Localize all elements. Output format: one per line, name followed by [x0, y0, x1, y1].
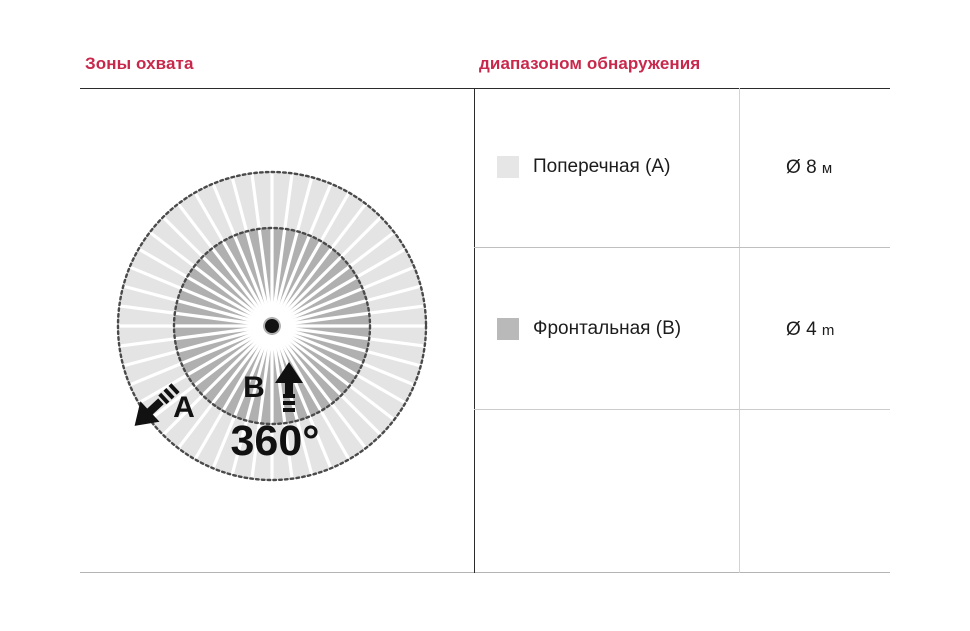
zone-range-frontal: Ø 4 m — [786, 319, 834, 341]
zone-a-label: A — [173, 391, 195, 424]
sensor-center-dot — [265, 319, 279, 333]
diameter-number-1: 8 — [806, 157, 817, 178]
page-title-detection-range: диапазоном обнаружения — [479, 54, 700, 74]
zone-label-frontal: Фронтальная (B) — [533, 318, 681, 340]
coverage-angle-label: 360° — [231, 417, 320, 465]
table-row-divider-1 — [474, 247, 890, 248]
table-value-divider — [739, 88, 740, 573]
diameter-unit-1: м — [822, 160, 832, 177]
coverage-diagram-svg: B A 360° — [108, 162, 436, 490]
table-top-border — [80, 88, 890, 89]
table-bottom-border — [80, 572, 890, 573]
zone-b-label: B — [243, 371, 265, 404]
diameter-number-2: 4 — [806, 319, 817, 340]
diameter-symbol-2: Ø — [786, 319, 801, 340]
table-row: Поперечная (A) — [497, 156, 670, 178]
zone-range-transverse: Ø 8 м — [786, 157, 832, 179]
zone-label-transverse: Поперечная (A) — [533, 156, 670, 178]
zone-swatch-frontal-icon — [497, 318, 519, 340]
page-title-coverage-zones: Зоны охвата — [85, 54, 194, 74]
table-row-divider-2 — [474, 409, 890, 410]
zone-swatch-transverse-icon — [497, 156, 519, 178]
table-column-divider — [474, 88, 475, 573]
diameter-symbol-1: Ø — [786, 157, 801, 178]
coverage-zone-diagram: B A 360° — [108, 162, 436, 490]
diameter-unit-2: m — [822, 322, 835, 339]
table-row: Фронтальная (B) — [497, 318, 681, 340]
